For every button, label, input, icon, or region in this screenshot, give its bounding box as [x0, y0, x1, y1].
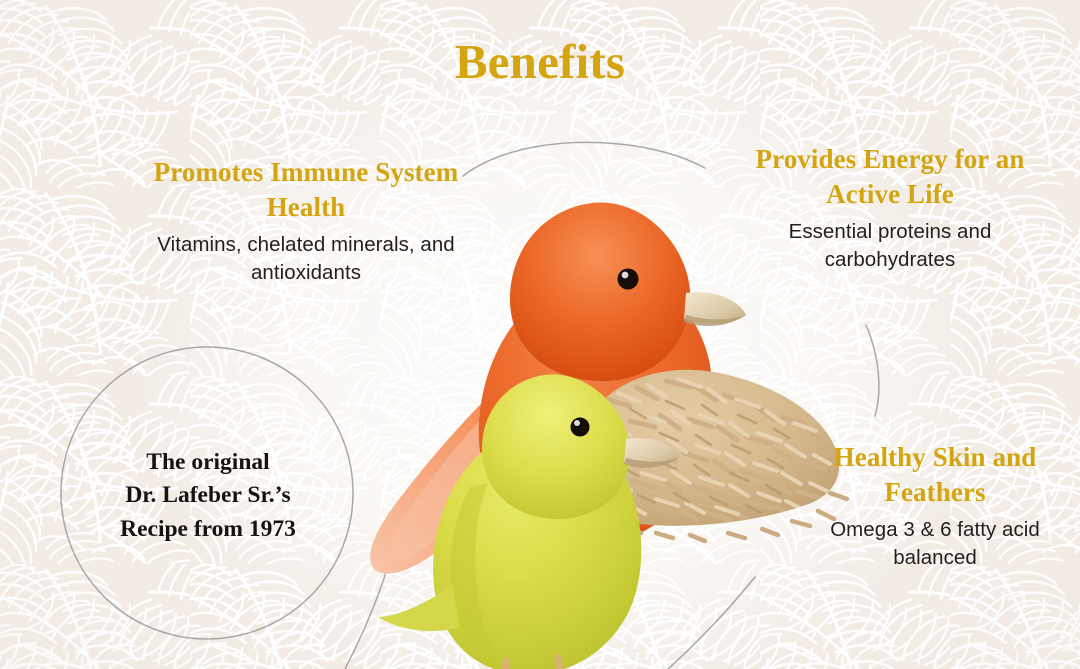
- benefit-block-energy: Provides Energy for an Active Life Essen…: [740, 142, 1040, 273]
- benefit-block-immune: Promotes Immune System Health Vitamins, …: [128, 155, 484, 286]
- orange-canary-eye: [618, 269, 639, 290]
- benefits-infographic: Benefits Promotes Immune System Health V…: [0, 0, 1080, 669]
- arc-right-vertical: [866, 325, 879, 416]
- benefit-body-energy: Essential proteins and carbohydrates: [740, 218, 1040, 273]
- page-title: Benefits: [0, 36, 1080, 87]
- benefit-body-skin: Omega 3 & 6 fatty acid balanced: [810, 516, 1060, 571]
- benefit-block-recipe: The original Dr. Lafeber Sr.’s Recipe fr…: [72, 446, 344, 546]
- benefit-body-immune: Vitamins, chelated minerals, and antioxi…: [128, 231, 484, 286]
- yellow-canary-eye: [571, 418, 590, 437]
- recipe-line-1: The original: [72, 446, 344, 479]
- benefit-block-skin: Healthy Skin and Feathers Omega 3 & 6 fa…: [810, 440, 1060, 571]
- recipe-line-3: Recipe from 1973: [72, 513, 344, 546]
- benefit-heading-immune: Promotes Immune System Health: [128, 155, 484, 224]
- recipe-line-2: Dr. Lafeber Sr.’s: [72, 479, 344, 512]
- benefit-heading-energy: Provides Energy for an Active Life: [740, 142, 1040, 211]
- benefit-heading-skin: Healthy Skin and Feathers: [810, 440, 1060, 509]
